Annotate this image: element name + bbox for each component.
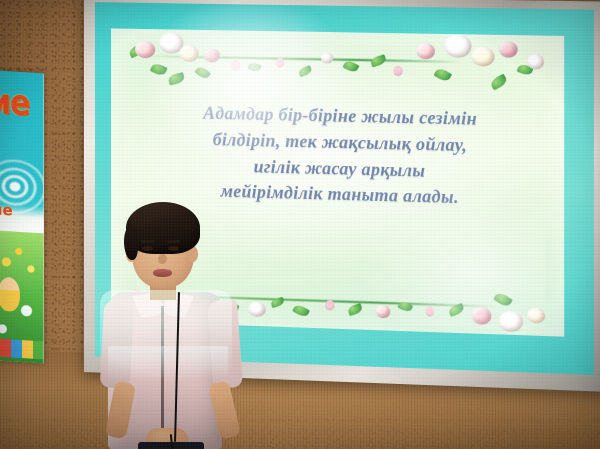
shirt-placket (161, 306, 164, 446)
sleeve-left (100, 299, 135, 388)
eyebrow-right (167, 240, 180, 243)
nose (158, 254, 167, 264)
poster-title-text: ие (0, 82, 29, 125)
poster-edge (43, 73, 44, 363)
eye-right (168, 246, 179, 251)
poster-blocks-illustration (0, 339, 44, 360)
classroom-scene: ие ие (0, 0, 600, 449)
mouth (153, 269, 172, 277)
sleeve-right (207, 299, 243, 389)
poster-subtitle-text: ие (0, 200, 13, 219)
hair-sideburn (124, 226, 138, 260)
student-figure (98, 196, 248, 449)
eyebrow-left (141, 240, 154, 243)
wall-poster: ие ие (0, 71, 44, 364)
eye-left (142, 246, 153, 251)
